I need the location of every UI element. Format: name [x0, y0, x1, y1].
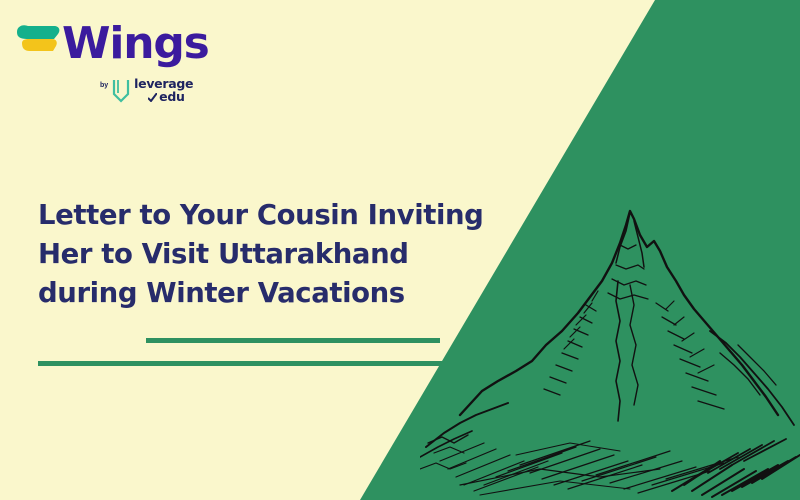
- decorative-rule-top: [146, 338, 440, 343]
- byline-brand: leverage edu: [134, 78, 193, 104]
- wings-byline: by leverage edu: [100, 76, 193, 104]
- byline-prefix: by: [100, 82, 108, 89]
- decorative-rule-bottom: [38, 361, 448, 366]
- leverage-edu-bookmark-icon: [112, 78, 130, 104]
- wings-wing-icon: [14, 20, 64, 65]
- wings-logo[interactable]: Wings by leverage edu: [14, 18, 214, 108]
- article-banner: Wings by leverage edu Letter to Your Cou…: [0, 0, 800, 500]
- page-title: Letter to Your Cousin Inviting Her to Vi…: [38, 196, 513, 313]
- wings-wordmark: Wings: [62, 22, 209, 66]
- byline-brand-edu-row: edu: [148, 91, 193, 104]
- byline-brand-edu: edu: [159, 91, 184, 104]
- leverage-edu-tick-icon: [148, 93, 157, 102]
